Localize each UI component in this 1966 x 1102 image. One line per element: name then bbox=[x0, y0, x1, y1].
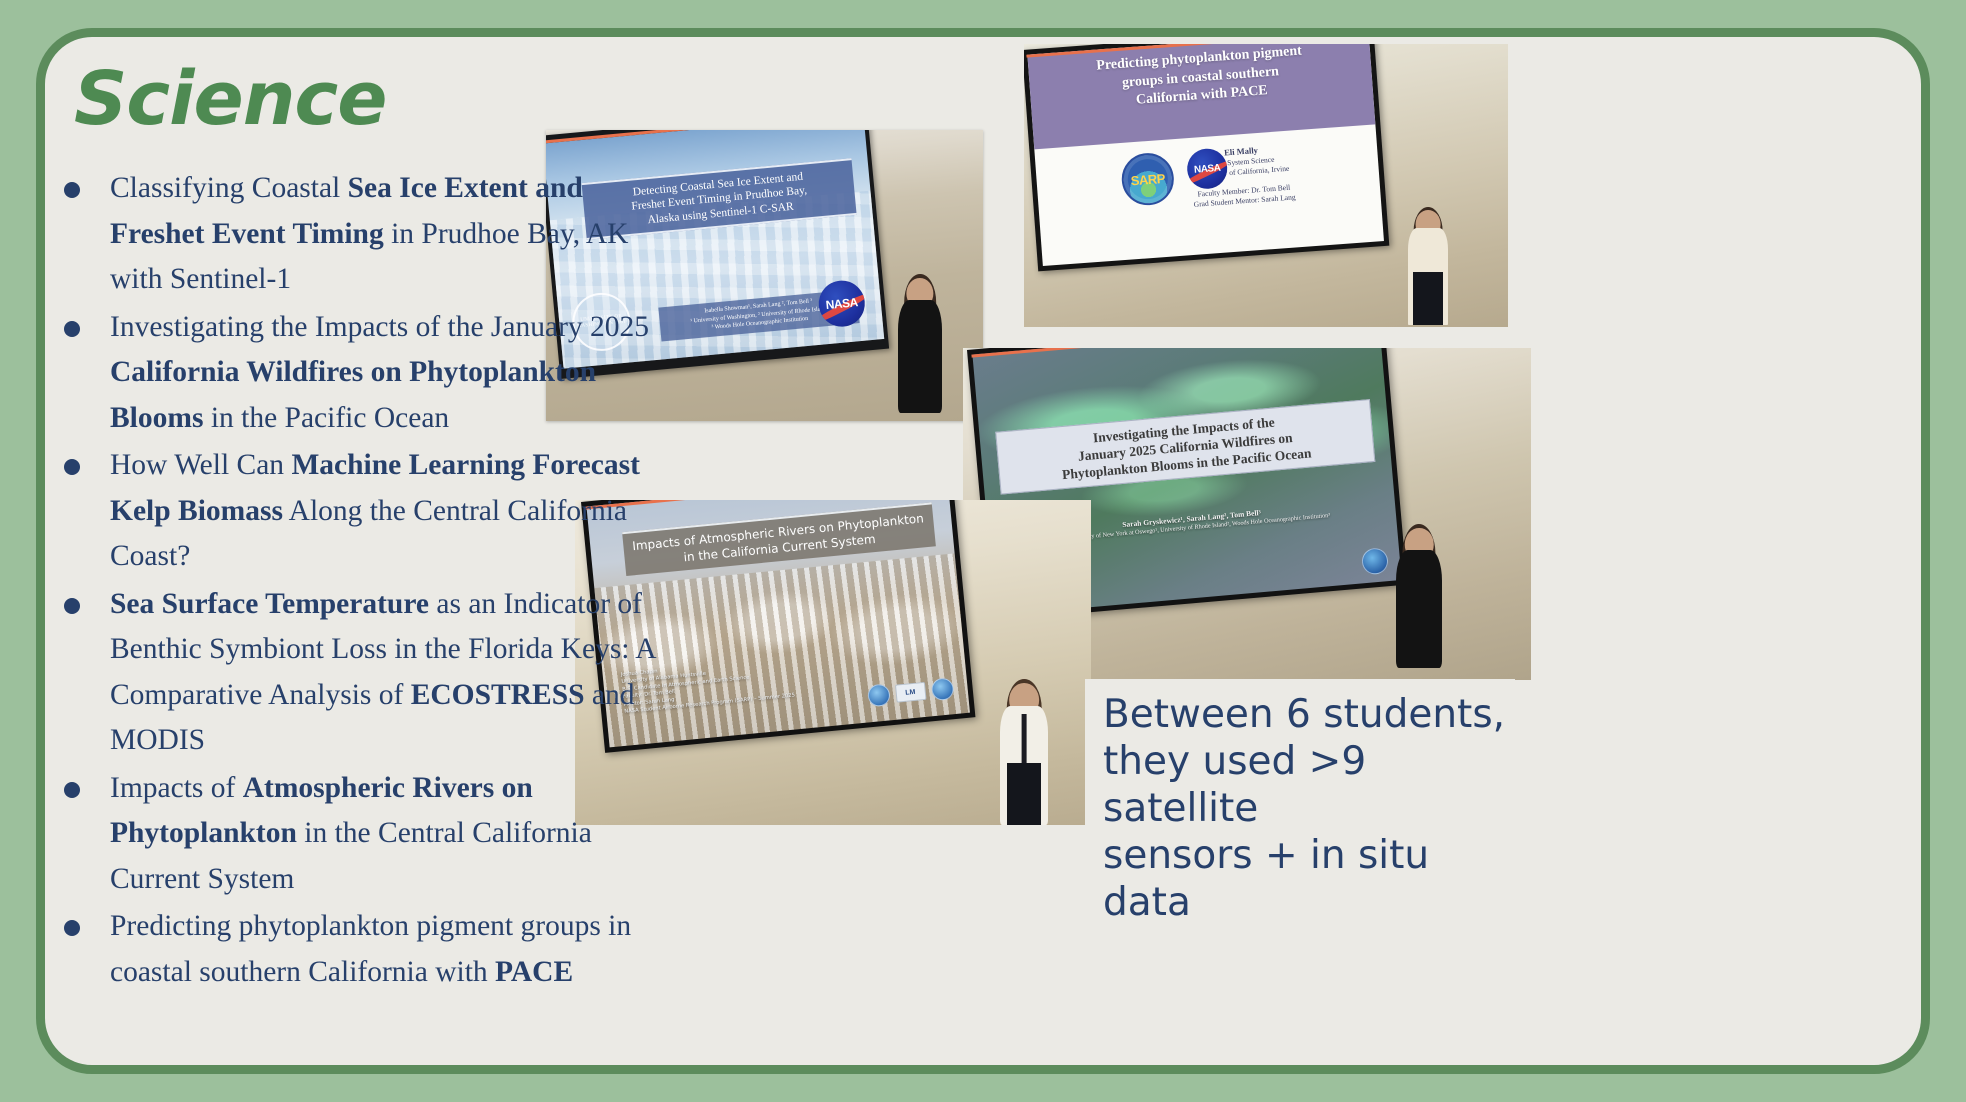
bullet-dot-icon bbox=[64, 321, 80, 337]
bullet-dot-icon bbox=[64, 920, 80, 936]
bullet-dot-icon bbox=[64, 182, 80, 198]
bullet-item-3: How Well Can Machine Learning Forecast K… bbox=[60, 443, 680, 580]
presenter-figure bbox=[898, 278, 942, 413]
callout-line-3: sensors + in situ data bbox=[1103, 832, 1509, 926]
presenter-body bbox=[898, 300, 942, 413]
pace-slide-body: SARP Eli Mally Earth System Science Univ… bbox=[1034, 125, 1384, 266]
bullet-dot-icon bbox=[64, 459, 80, 475]
presenter-figure bbox=[1396, 528, 1442, 668]
bullet-item-5: Impacts of Atmospheric Rivers on Phytopl… bbox=[60, 766, 680, 903]
callout-line-1: Between 6 students, bbox=[1103, 691, 1509, 738]
partner-logo-icon bbox=[1361, 547, 1389, 575]
lockheed-martin-logo-icon: LM bbox=[895, 682, 927, 703]
statistic-callout: Between 6 students, they used >9 satelli… bbox=[1085, 679, 1515, 841]
page-title: Science bbox=[74, 56, 386, 142]
presenter-figure bbox=[1408, 210, 1448, 325]
callout-line-2: they used >9 satellite bbox=[1103, 738, 1509, 832]
bullet-item-text: Investigating the Impacts of the January… bbox=[110, 305, 680, 442]
presenter-legs bbox=[1007, 763, 1042, 825]
partner-logo-icon bbox=[866, 684, 890, 708]
bullet-item-text: Sea Surface Temperature as an Indicator … bbox=[110, 582, 680, 764]
pace-slide: Predicting phytoplankton pigment groups … bbox=[1027, 44, 1384, 266]
bullet-item-1: Classifying Coastal Sea Ice Extent and F… bbox=[60, 166, 680, 303]
presenter-body bbox=[1396, 550, 1442, 668]
presenter-figure bbox=[1000, 683, 1048, 825]
presentation-slide: Science Classifying Coastal Sea Ice Exte… bbox=[0, 0, 1966, 1102]
bullet-item-6: Predicting phytoplankton pigment groups … bbox=[60, 904, 680, 995]
bullet-item-4: Sea Surface Temperature as an Indicator … bbox=[60, 582, 680, 764]
science-bullet-list: Classifying Coastal Sea Ice Extent and F… bbox=[60, 166, 680, 997]
projector-screen: Predicting phytoplankton pigment groups … bbox=[1024, 44, 1389, 271]
bullet-item-text: Predicting phytoplankton pigment groups … bbox=[110, 904, 680, 995]
bullet-item-text: Classifying Coastal Sea Ice Extent and F… bbox=[110, 166, 680, 303]
presenter-legs bbox=[1413, 272, 1443, 325]
bullet-item-2: Investigating the Impacts of the January… bbox=[60, 305, 680, 442]
nasa-logo-icon bbox=[930, 678, 954, 702]
pace-presentation-photo: Predicting phytoplankton pigment groups … bbox=[1024, 44, 1508, 327]
sarp-logo-icon: SARP bbox=[1120, 152, 1176, 208]
bullet-dot-icon bbox=[64, 782, 80, 798]
bullet-item-text: How Well Can Machine Learning Forecast K… bbox=[110, 443, 680, 580]
bullet-item-text: Impacts of Atmospheric Rivers on Phytopl… bbox=[110, 766, 680, 903]
bullet-dot-icon bbox=[64, 598, 80, 614]
